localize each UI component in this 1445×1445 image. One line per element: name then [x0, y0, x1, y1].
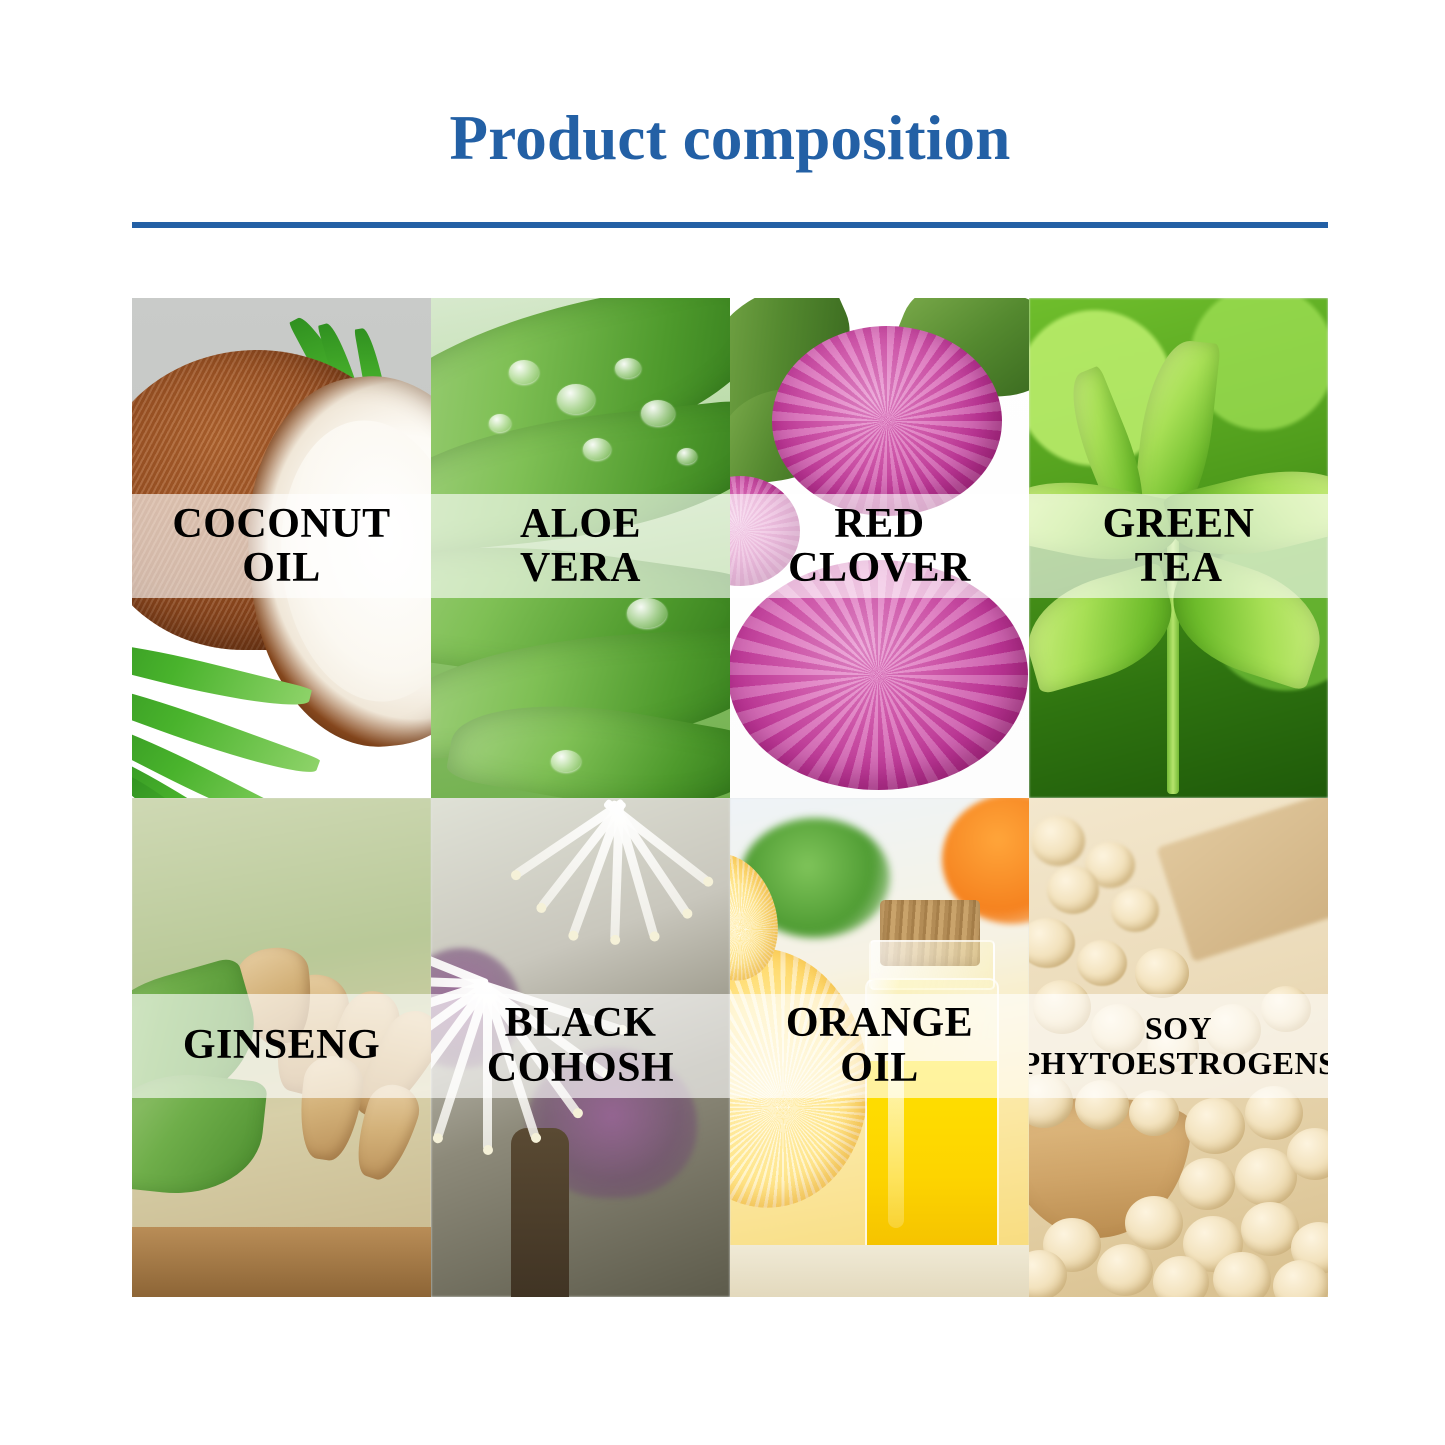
tile-label: ALOE VERA — [516, 502, 645, 590]
tile-label-line2: OIL — [840, 1045, 919, 1091]
tile-label: ORANGE OIL — [782, 1001, 977, 1089]
tile-label-line2: CLOVER — [788, 545, 971, 591]
ingredient-tile-soy-phytoestrogens[interactable]: SOY PHYTOESTROGENS — [1029, 798, 1328, 1298]
tile-label: GINSENG — [179, 1023, 384, 1067]
ingredient-tile-aloe-vera[interactable]: ALOE VERA — [431, 298, 730, 798]
product-composition-infographic: Product composition COCONUT — [0, 0, 1445, 1445]
tile-label-line2: COHOSH — [487, 1045, 674, 1091]
ingredient-tile-black-cohosh[interactable]: BLACK COHOSH — [431, 798, 730, 1298]
tile-label-band: COCONUT OIL — [132, 494, 431, 598]
ingredient-grid: COCONUT OIL — [132, 298, 1328, 1297]
tile-label-band: GINSENG — [132, 994, 431, 1098]
tile-label-band: ORANGE OIL — [730, 994, 1029, 1098]
ingredient-tile-ginseng[interactable]: GINSENG — [132, 798, 431, 1298]
page-title: Product composition — [132, 104, 1328, 173]
tile-label-band: SOY PHYTOESTROGENS — [1029, 994, 1328, 1098]
tile-label-line2: TEA — [1135, 545, 1223, 591]
tile-label-band: GREEN TEA — [1029, 494, 1328, 598]
tile-label: RED CLOVER — [784, 502, 975, 590]
header: Product composition — [132, 104, 1328, 173]
tile-label: SOY PHYTOESTROGENS — [1029, 1011, 1328, 1080]
tile-label-band: ALOE VERA — [431, 494, 730, 598]
tile-label-line2: PHYTOESTROGENS — [1029, 1045, 1328, 1081]
tile-label-line1: SOY — [1145, 1010, 1212, 1046]
tile-label-line1: BLACK — [505, 1000, 657, 1046]
ingredient-tile-green-tea[interactable]: GREEN TEA — [1029, 298, 1328, 798]
ingredient-tile-orange-oil[interactable]: ORANGE OIL — [730, 798, 1029, 1298]
tile-label: GREEN TEA — [1099, 502, 1259, 590]
ingredient-tile-coconut-oil[interactable]: COCONUT OIL — [132, 298, 431, 798]
tile-label: BLACK COHOSH — [483, 1001, 678, 1089]
tile-label-line1: GREEN — [1103, 501, 1255, 547]
tile-label-line1: ORANGE — [786, 1000, 973, 1046]
ingredient-tile-red-clover[interactable]: RED CLOVER — [730, 298, 1029, 798]
tile-label-line2: OIL — [242, 545, 321, 591]
tile-label-band: BLACK COHOSH — [431, 994, 730, 1098]
tile-label-line1: COCONUT — [172, 501, 390, 547]
tile-label-line1: ALOE — [520, 501, 641, 547]
tile-label-band: RED CLOVER — [730, 494, 1029, 598]
tile-label-line1: GINSENG — [183, 1022, 380, 1068]
tile-label-line1: RED — [834, 501, 924, 547]
tile-label-line2: VERA — [520, 545, 641, 591]
title-divider-rule — [132, 222, 1328, 228]
tile-label: COCONUT OIL — [168, 502, 394, 590]
